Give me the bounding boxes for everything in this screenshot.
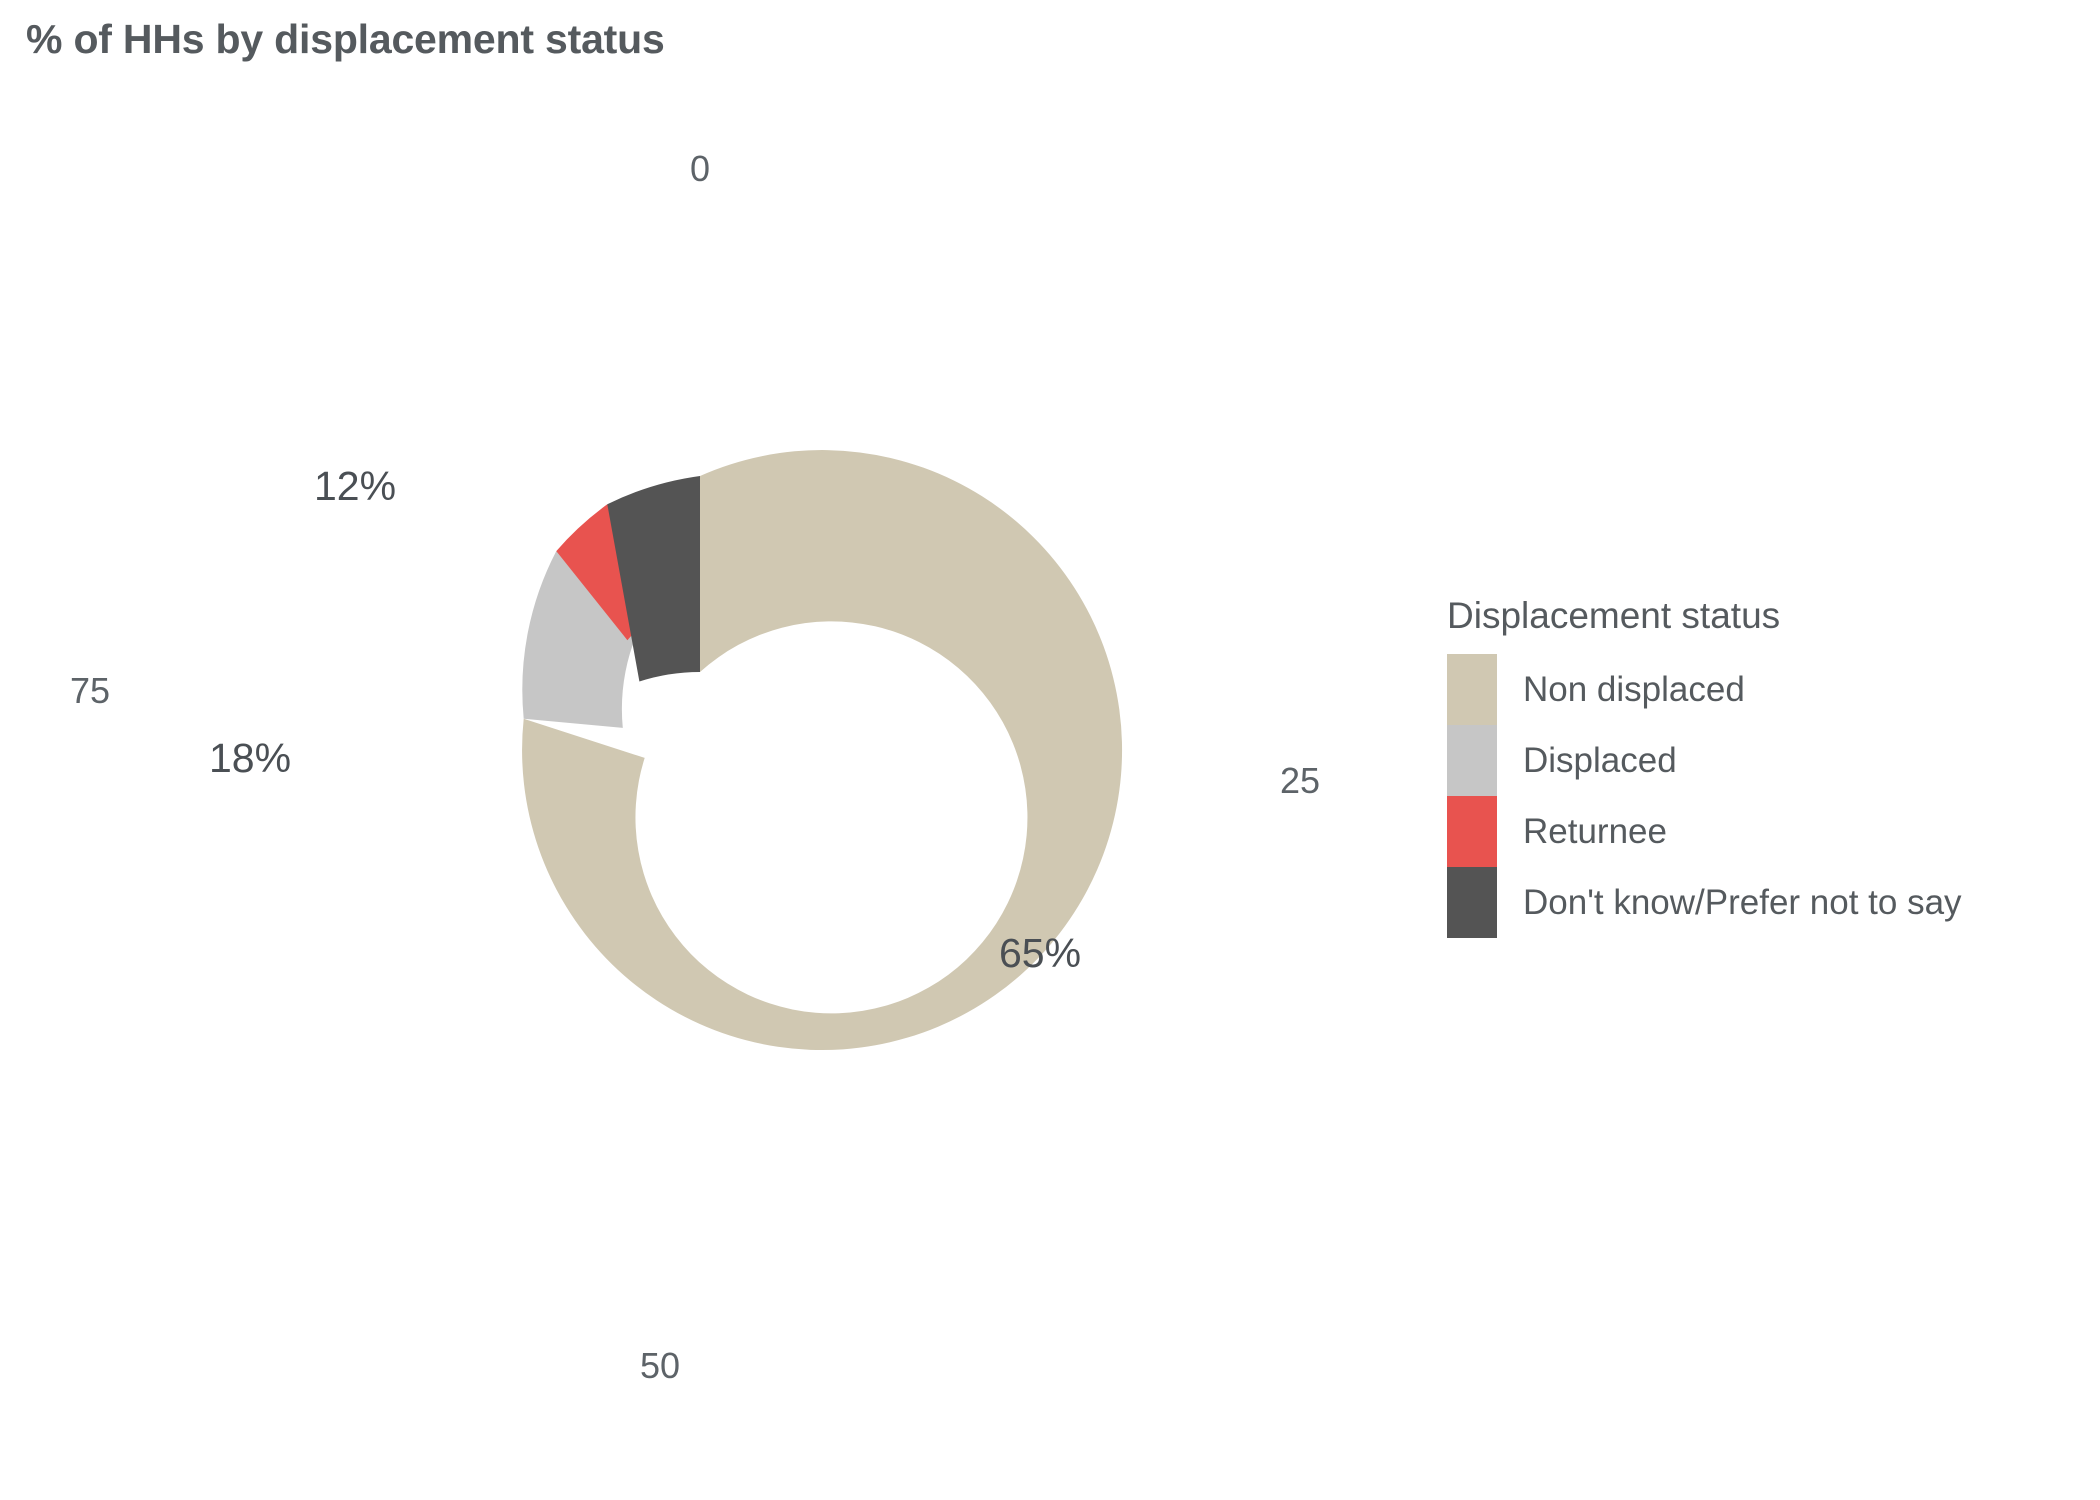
legend-label-non-displaced: Non displaced <box>1523 672 1745 707</box>
axis-tick-75: 75 <box>30 670 150 712</box>
legend-swatch-icon-dont-know <box>1447 867 1497 938</box>
legend-swatch-icon-returnee <box>1447 796 1497 867</box>
legend-title: Displacement status <box>1447 596 2067 637</box>
axis-tick-50: 50 <box>600 1345 720 1387</box>
legend: Displacement status Non displaced Displa… <box>1447 596 2067 938</box>
legend-label-returnee: Returnee <box>1523 814 1667 849</box>
legend-items: Non displaced Displaced Returnee Don't k… <box>1447 654 2067 938</box>
legend-swatch-icon-non-displaced <box>1447 654 1497 725</box>
legend-item-non-displaced[interactable]: Non displaced <box>1447 654 2067 725</box>
legend-item-dont-know[interactable]: Don't know/Prefer not to say <box>1447 867 2067 938</box>
axis-tick-0: 0 <box>640 148 760 190</box>
donut-slices <box>522 450 1122 1050</box>
donut-chart-plot-area: 0 25 50 75 65% 18% 12% <box>0 0 1420 1500</box>
axis-tick-25: 25 <box>1240 760 1360 802</box>
legend-label-displaced: Displaced <box>1523 743 1677 778</box>
legend-item-displaced[interactable]: Displaced <box>1447 725 2067 796</box>
legend-item-returnee[interactable]: Returnee <box>1447 796 2067 867</box>
donut-chart-svg <box>0 0 1420 1500</box>
legend-swatch-icon-displaced <box>1447 725 1497 796</box>
legend-label-dont-know: Don't know/Prefer not to say <box>1523 885 1962 920</box>
